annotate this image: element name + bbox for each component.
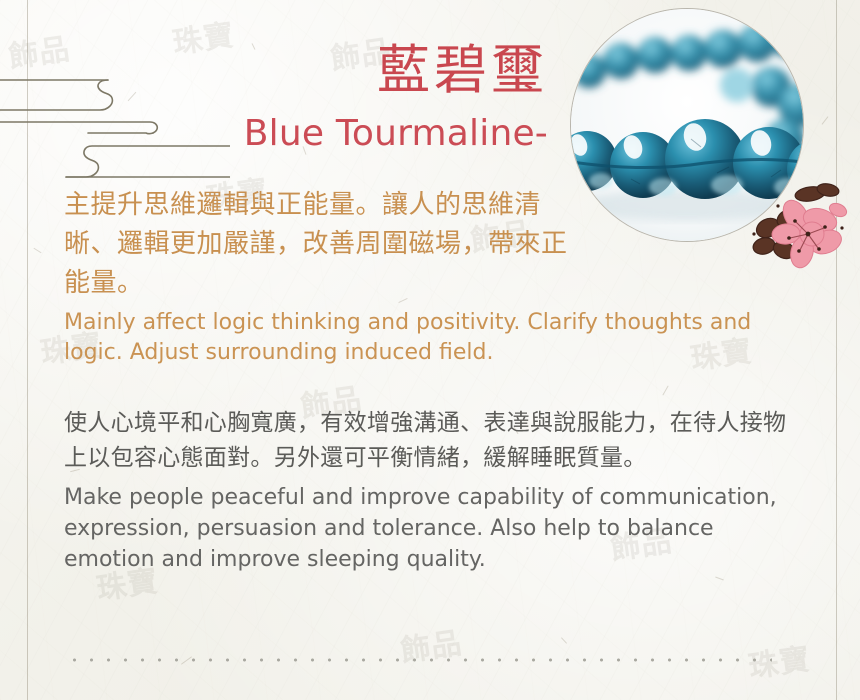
primary-effect-english: Mainly affect logic thinking and positiv… — [64, 308, 764, 368]
dotted-divider — [66, 658, 772, 662]
secondary-effect-chinese: 使人心境平和心胸寬廣，有效增強溝通、表達與說服能力，在待人接物上以包容心態面對。… — [64, 406, 804, 476]
page-title-english: Blue Tourmaline- — [0, 112, 548, 156]
page-title-chinese: 藍碧璽 — [0, 40, 548, 102]
text-content: 藍碧璽 Blue Tourmaline- 主提升思維邏輯與正能量。讓人的思維清晰… — [0, 0, 860, 700]
secondary-effect-english: Make people peaceful and improve capabil… — [64, 482, 784, 575]
primary-effect-chinese: 主提升思維邏輯與正能量。讓人的思維清晰、邏輯更加嚴謹，改善周圍磁場，帶來正能量。 — [64, 186, 574, 303]
product-info-card: 飾品 珠寶 飾品 珠寶 飾品 珠寶 飾品 珠寶 飾品 珠寶 飾品 珠寶 — [0, 0, 860, 700]
